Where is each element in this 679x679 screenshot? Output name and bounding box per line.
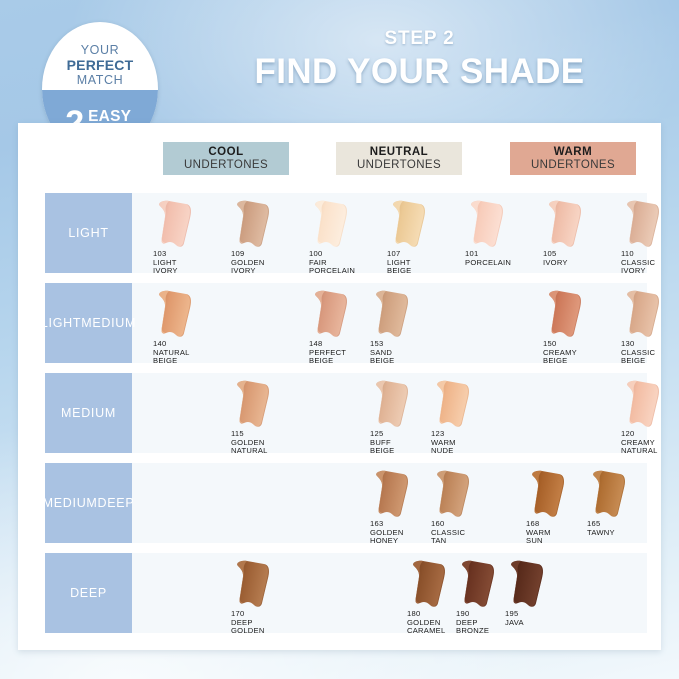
undertone-header-warm: WARMUNDERTONES — [510, 142, 636, 175]
shade-label: 120CREAMYNATURAL — [621, 430, 679, 456]
shade-row-medium-deep: MEDIUMDEEP163GOLDENHONEY160CLASSICTAN168… — [18, 463, 661, 543]
foundation-smear-icon — [456, 559, 498, 609]
undertone-header-neutral: NEUTRALUNDERTONES — [336, 142, 462, 175]
foundation-smear-icon — [543, 199, 585, 249]
shade-row-light-medium: LIGHTMEDIUM140NATURALBEIGE148PERFECTBEIG… — [18, 283, 661, 363]
row-level-label: DEEP — [45, 553, 132, 633]
shade-name-word: JAVA — [505, 619, 569, 628]
shade-name-word: SUN — [526, 537, 590, 546]
shade-label: 195JAVA — [505, 610, 569, 627]
foundation-smear-icon — [231, 379, 273, 429]
page-title: FIND YOUR SHADE — [190, 52, 649, 92]
foundation-smear-icon — [370, 379, 412, 429]
shade-label: 140NATURALBEIGE — [153, 340, 217, 366]
shade-name-word: NATURAL — [231, 447, 295, 456]
foundation-smear-icon — [231, 559, 273, 609]
row-level-label: MEDIUM — [45, 373, 132, 453]
shade-swatch-103[interactable]: 103LIGHTIVORY — [153, 199, 211, 249]
badge-line-perfect: PERFECT — [67, 57, 134, 73]
shade-swatch-170[interactable]: 170DEEPGOLDEN — [231, 559, 289, 609]
foundation-smear-icon — [621, 199, 663, 249]
shade-name-word: HONEY — [370, 537, 434, 546]
row-band — [45, 373, 647, 453]
shade-chart-card: COOLUNDERTONESNEUTRALUNDERTONESWARMUNDER… — [18, 123, 661, 650]
foundation-smear-icon — [621, 379, 663, 429]
shade-label: 100FAIRPORCELAIN — [309, 250, 373, 276]
row-level-label: LIGHT — [45, 193, 132, 273]
shade-swatch-105[interactable]: 105IVORY — [543, 199, 601, 249]
shade-name-word: BEIGE — [387, 267, 451, 276]
shade-swatch-100[interactable]: 100FAIRPORCELAIN — [309, 199, 367, 249]
shade-swatch-148[interactable]: 148PERFECTBEIGE — [309, 289, 367, 339]
shade-label: 105IVORY — [543, 250, 607, 267]
foundation-smear-icon — [387, 199, 429, 249]
shade-swatch-140[interactable]: 140NATURALBEIGE — [153, 289, 211, 339]
shade-label: 160CLASSICTAN — [431, 520, 495, 546]
step-label: STEP 2 — [190, 28, 649, 50]
undertone-name: NEUTRAL — [370, 146, 428, 159]
shade-name-word: BEIGE — [543, 357, 607, 366]
infographic-canvas: YOUR PERFECT MATCH 2 EASY STEPS STEP 2 F… — [0, 0, 679, 679]
shade-swatch-130[interactable]: 130CLASSICBEIGE — [621, 289, 679, 339]
shade-name-word: BRONZE — [456, 627, 520, 636]
foundation-smear-icon — [587, 469, 629, 519]
shade-label: 125BUFFBEIGE — [370, 430, 434, 456]
shade-swatch-125[interactable]: 125BUFFBEIGE — [370, 379, 428, 429]
foundation-smear-icon — [309, 289, 351, 339]
shade-swatch-101[interactable]: 101PORCELAIN — [465, 199, 523, 249]
foundation-smear-icon — [309, 199, 351, 249]
shade-swatch-168[interactable]: 168WARMSUN — [526, 469, 584, 519]
foundation-smear-icon — [153, 289, 195, 339]
foundation-smear-icon — [431, 469, 473, 519]
shade-swatch-163[interactable]: 163GOLDENHONEY — [370, 469, 428, 519]
shade-label: 123WARMNUDE — [431, 430, 495, 456]
shade-name-word: IVORY — [153, 267, 217, 276]
shade-swatch-107[interactable]: 107LIGHTBEIGE — [387, 199, 445, 249]
shade-swatch-109[interactable]: 109GOLDENIVORY — [231, 199, 289, 249]
header: STEP 2 FIND YOUR SHADE — [190, 28, 649, 92]
foundation-smear-icon — [370, 469, 412, 519]
shade-name-word: IVORY — [621, 267, 679, 276]
shade-label: 170DEEPGOLDEN — [231, 610, 295, 636]
shade-label: 110CLASSICIVORY — [621, 250, 679, 276]
shade-name-word: GOLDEN — [231, 627, 295, 636]
foundation-smear-icon — [370, 289, 412, 339]
shade-name-word: PORCELAIN — [465, 259, 529, 268]
shade-name-word: IVORY — [231, 267, 295, 276]
shade-name-word: TAN — [431, 537, 495, 546]
shade-label: 148PERFECTBEIGE — [309, 340, 373, 366]
shade-swatch-160[interactable]: 160CLASSICTAN — [431, 469, 489, 519]
shade-name-word: TAWNY — [587, 529, 651, 538]
shade-name-word: PORCELAIN — [309, 267, 373, 276]
shade-name-word: BEIGE — [621, 357, 679, 366]
badge-line-your: YOUR — [81, 43, 120, 57]
shade-swatch-150[interactable]: 150CREAMYBEIGE — [543, 289, 601, 339]
shade-label: 109GOLDENIVORY — [231, 250, 295, 276]
foundation-smear-icon — [543, 289, 585, 339]
undertone-header-cool: COOLUNDERTONES — [163, 142, 289, 175]
shade-row-light: LIGHT103LIGHTIVORY109GOLDENIVORY100FAIRP… — [18, 193, 661, 273]
foundation-smear-icon — [153, 199, 195, 249]
shade-label: 107LIGHTBEIGE — [387, 250, 451, 276]
shade-label: 115GOLDENNATURAL — [231, 430, 295, 456]
undertone-sublabel: UNDERTONES — [357, 159, 441, 172]
undertone-sublabel: UNDERTONES — [184, 159, 268, 172]
shade-swatch-195[interactable]: 195JAVA — [505, 559, 563, 609]
shade-name-word: BEIGE — [309, 357, 373, 366]
shade-swatch-110[interactable]: 110CLASSICIVORY — [621, 199, 679, 249]
shade-row-deep: DEEP170DEEPGOLDEN180GOLDENCARAMEL190DEEP… — [18, 553, 661, 633]
undertone-header-row: COOLUNDERTONESNEUTRALUNDERTONESWARMUNDER… — [18, 123, 661, 175]
shade-label: 163GOLDENHONEY — [370, 520, 434, 546]
foundation-smear-icon — [431, 379, 473, 429]
foundation-smear-icon — [621, 289, 663, 339]
shade-swatch-165[interactable]: 165TAWNY — [587, 469, 645, 519]
shade-name-word: IVORY — [543, 259, 607, 268]
foundation-smear-icon — [465, 199, 507, 249]
shade-swatch-153[interactable]: 153SANDBEIGE — [370, 289, 428, 339]
undertone-sublabel: UNDERTONES — [531, 159, 615, 172]
shade-swatch-115[interactable]: 115GOLDENNATURAL — [231, 379, 289, 429]
undertone-name: COOL — [208, 146, 243, 159]
shade-name-word: NUDE — [431, 447, 495, 456]
shade-label: 150CREAMYBEIGE — [543, 340, 607, 366]
badge-top: YOUR PERFECT MATCH — [42, 22, 158, 90]
foundation-smear-icon — [505, 559, 547, 609]
shade-label: 130CLASSICBEIGE — [621, 340, 679, 366]
shade-label: 153SANDBEIGE — [370, 340, 434, 366]
undertone-name: WARM — [554, 146, 592, 159]
shade-label: 103LIGHTIVORY — [153, 250, 217, 276]
shade-name-word: BEIGE — [153, 357, 217, 366]
shade-label: 101PORCELAIN — [465, 250, 529, 267]
shade-label: 168WARMSUN — [526, 520, 590, 546]
shade-name-word: BEIGE — [370, 357, 434, 366]
row-level-label: MEDIUMDEEP — [45, 463, 132, 543]
shade-row-medium: MEDIUM115GOLDENNATURAL125BUFFBEIGE123WAR… — [18, 373, 661, 453]
shade-swatch-120[interactable]: 120CREAMYNATURAL — [621, 379, 679, 429]
shade-name-word: NATURAL — [621, 447, 679, 456]
row-level-label: LIGHTMEDIUM — [45, 283, 132, 363]
badge-line-match: MATCH — [77, 73, 124, 88]
shade-swatch-123[interactable]: 123WARMNUDE — [431, 379, 489, 429]
foundation-smear-icon — [526, 469, 568, 519]
foundation-smear-icon — [231, 199, 273, 249]
foundation-smear-icon — [407, 559, 449, 609]
shade-label: 165TAWNY — [587, 520, 651, 537]
shade-name-word: BEIGE — [370, 447, 434, 456]
